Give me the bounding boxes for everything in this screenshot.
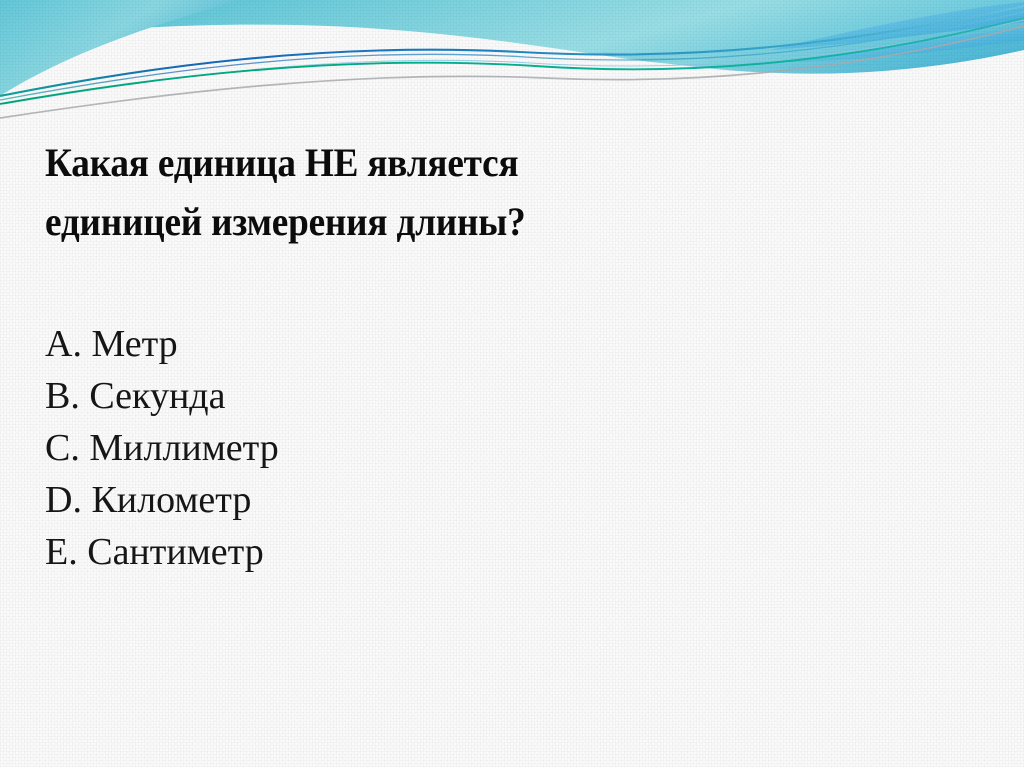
- list-item[interactable]: C. Миллиметр: [45, 422, 745, 474]
- page-title: Какая единица НЕ являетсяединицей измере…: [45, 133, 808, 251]
- title-line-1: Какая единица НЕ является: [45, 140, 518, 185]
- list-item[interactable]: A. Метр: [45, 318, 745, 370]
- presentation-slide: Какая единица НЕ являетсяединицей измере…: [0, 0, 1024, 767]
- answer-text-c: Миллиметр: [89, 427, 278, 469]
- answer-letter-d: D.: [45, 479, 82, 521]
- list-item[interactable]: E. Сантиметр: [45, 526, 745, 578]
- answer-options-list: A. Метр B. Секунда C. Миллиметр D. Килом…: [45, 318, 745, 578]
- title-line-2: единицей измерения длины?: [45, 199, 526, 244]
- answer-letter-c: C.: [45, 427, 80, 469]
- answer-letter-e: E.: [45, 531, 78, 573]
- answer-text-d: Километр: [91, 479, 251, 521]
- answer-letter-a: A.: [45, 323, 82, 365]
- list-item[interactable]: D. Километр: [45, 474, 745, 526]
- answer-letter-b: B.: [45, 375, 80, 417]
- slide-content: Какая единица НЕ являетсяединицей измере…: [0, 0, 1024, 767]
- answer-text-a: Метр: [91, 323, 177, 365]
- answer-text-e: Сантиметр: [87, 531, 263, 573]
- list-item[interactable]: B. Секунда: [45, 370, 745, 422]
- answer-text-b: Секунда: [89, 375, 225, 417]
